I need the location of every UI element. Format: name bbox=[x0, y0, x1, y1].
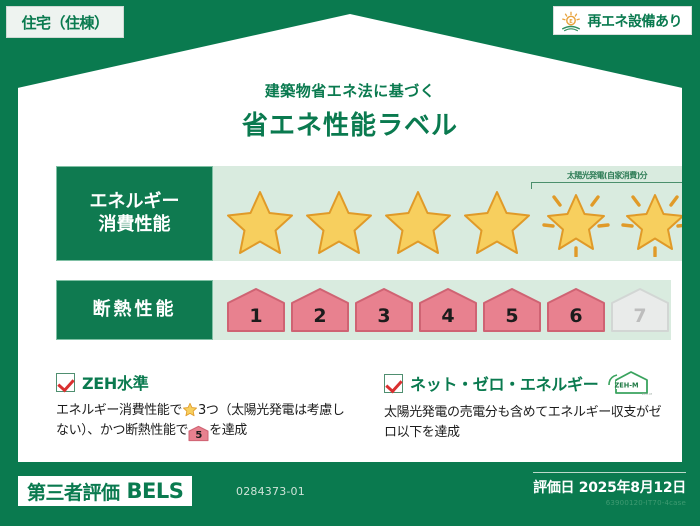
energy-label-line1: エネルギー bbox=[90, 191, 180, 214]
insulation-performance-value: 1 2 3 4 5 bbox=[213, 280, 671, 340]
evaluation-code: 63900120-IT70-4case bbox=[533, 499, 686, 507]
insulation-level: 5 bbox=[481, 287, 543, 333]
svg-text:E: E bbox=[569, 18, 573, 24]
bels-label: BELS bbox=[127, 479, 184, 503]
category-tab: 住宅（住棟） bbox=[6, 6, 124, 38]
svg-text:ZEH-M: ZEH-M bbox=[642, 392, 652, 396]
title-block: 建築物省エネ法に基づく 省エネ性能ラベル bbox=[18, 80, 682, 142]
star-filled-solar bbox=[537, 183, 615, 257]
third-party-label: 第三者評価 bbox=[27, 478, 120, 505]
star-filled bbox=[458, 183, 536, 257]
criterion-text-pre: エネルギー消費性能で bbox=[56, 403, 182, 418]
inline-insulation-number: 5 bbox=[195, 430, 202, 441]
star-filled bbox=[300, 183, 378, 257]
insulation-level: 1 bbox=[225, 287, 287, 333]
criterion-header: ネット・ゼロ・エネルギー ZEH-M ZEH-M bbox=[384, 370, 666, 396]
energy-label-line2: 消費性能 bbox=[99, 214, 171, 237]
renewable-badge-label: 再エネ設備あり bbox=[588, 11, 683, 31]
insulation-level-number: 3 bbox=[377, 305, 390, 333]
inline-star-icon bbox=[182, 401, 198, 417]
evaluation-date: 評価日 2025年8月12日 bbox=[533, 472, 686, 497]
insulation-level: 3 bbox=[353, 287, 415, 333]
evaluation-info: 評価日 2025年8月12日 63900120-IT70-4case bbox=[533, 472, 686, 507]
insulation-level-number: 6 bbox=[569, 305, 582, 333]
criterion-zeh: ZEH水準 エネルギー消費性能で3つ（太陽光発電は考慮しない）、かつ断熱性能で5… bbox=[56, 370, 368, 443]
insulation-level-number: 7 bbox=[633, 305, 646, 333]
checkbox-checked-icon bbox=[56, 373, 75, 392]
renewable-energy-badge: E 再エネ設備あり bbox=[553, 6, 693, 35]
insulation-level-number: 5 bbox=[505, 305, 518, 333]
insulation-level: 2 bbox=[289, 287, 351, 333]
inline-insulation-badge: 5 bbox=[188, 425, 209, 442]
criterion-title: ネット・ゼロ・エネルギー bbox=[410, 371, 598, 395]
svg-text:ZEH-M: ZEH-M bbox=[615, 382, 639, 390]
insulation-level-number: 1 bbox=[249, 305, 262, 333]
insulation-level-number: 4 bbox=[441, 305, 454, 333]
energy-performance-label: エネルギー 消費性能 bbox=[56, 166, 213, 261]
label-card: 建築物省エネ法に基づく 省エネ性能ラベル エネルギー 消費性能 太陽光発電(自家… bbox=[18, 14, 682, 462]
star-filled bbox=[379, 183, 457, 257]
energy-performance-value: 太陽光発電(自家消費)分 bbox=[213, 166, 694, 261]
energy-star-rating bbox=[221, 183, 694, 257]
category-tab-label: 住宅（住棟） bbox=[21, 12, 108, 33]
star-filled bbox=[221, 183, 299, 257]
insulation-level: 4 bbox=[417, 287, 479, 333]
title-subtitle: 建築物省エネ法に基づく bbox=[18, 80, 682, 101]
criterion-header: ZEH水準 bbox=[56, 370, 354, 394]
criteria-section: ZEH水準 エネルギー消費性能で3つ（太陽光発電は考慮しない）、かつ断熱性能で5… bbox=[56, 370, 680, 443]
footer: 第三者評価 BELS 0284373-01 評価日 2025年8月12日 639… bbox=[0, 464, 700, 526]
criterion-text-post: を達成 bbox=[209, 423, 247, 438]
criterion-description: 太陽光発電の売電分も含めてエネルギー収支がゼロ以下を達成 bbox=[384, 403, 666, 443]
insulation-performance-row: 断熱性能 1 2 3 bbox=[56, 280, 668, 340]
solar-note-text: 太陽光発電(自家消費)分 bbox=[531, 170, 683, 181]
insulation-performance-label: 断熱性能 bbox=[56, 280, 213, 340]
certificate-number: 0284373-01 bbox=[236, 485, 305, 498]
bels-energy-label: 住宅（住棟） E 再エネ設備あり 建築物省エネ法に基づく 省エネ性能ラベル bbox=[0, 0, 700, 526]
criterion-net-zero: ネット・ゼロ・エネルギー ZEH-M ZEH-M 太陽光発電の売電分も含めてエネ… bbox=[368, 370, 680, 443]
zeh-m-house-logo-icon: ZEH-M ZEH-M bbox=[607, 370, 653, 396]
star-filled-solar bbox=[616, 183, 694, 257]
criterion-description: エネルギー消費性能で3つ（太陽光発電は考慮しない）、かつ断熱性能で5を達成 bbox=[56, 401, 354, 442]
insulation-level: 6 bbox=[545, 287, 607, 333]
insulation-level-inactive: 7 bbox=[609, 287, 671, 333]
page-title: 省エネ性能ラベル bbox=[18, 105, 682, 142]
criterion-title: ZEH水準 bbox=[82, 370, 148, 394]
energy-performance-row: エネルギー 消費性能 太陽光発電(自家消費)分 bbox=[56, 166, 668, 261]
sun-icon: E bbox=[559, 10, 583, 32]
insulation-level-scale: 1 2 3 4 5 bbox=[225, 287, 671, 333]
bels-certification-box: 第三者評価 BELS bbox=[18, 476, 192, 506]
checkbox-checked-icon bbox=[384, 374, 403, 393]
insulation-level-number: 2 bbox=[313, 305, 326, 333]
